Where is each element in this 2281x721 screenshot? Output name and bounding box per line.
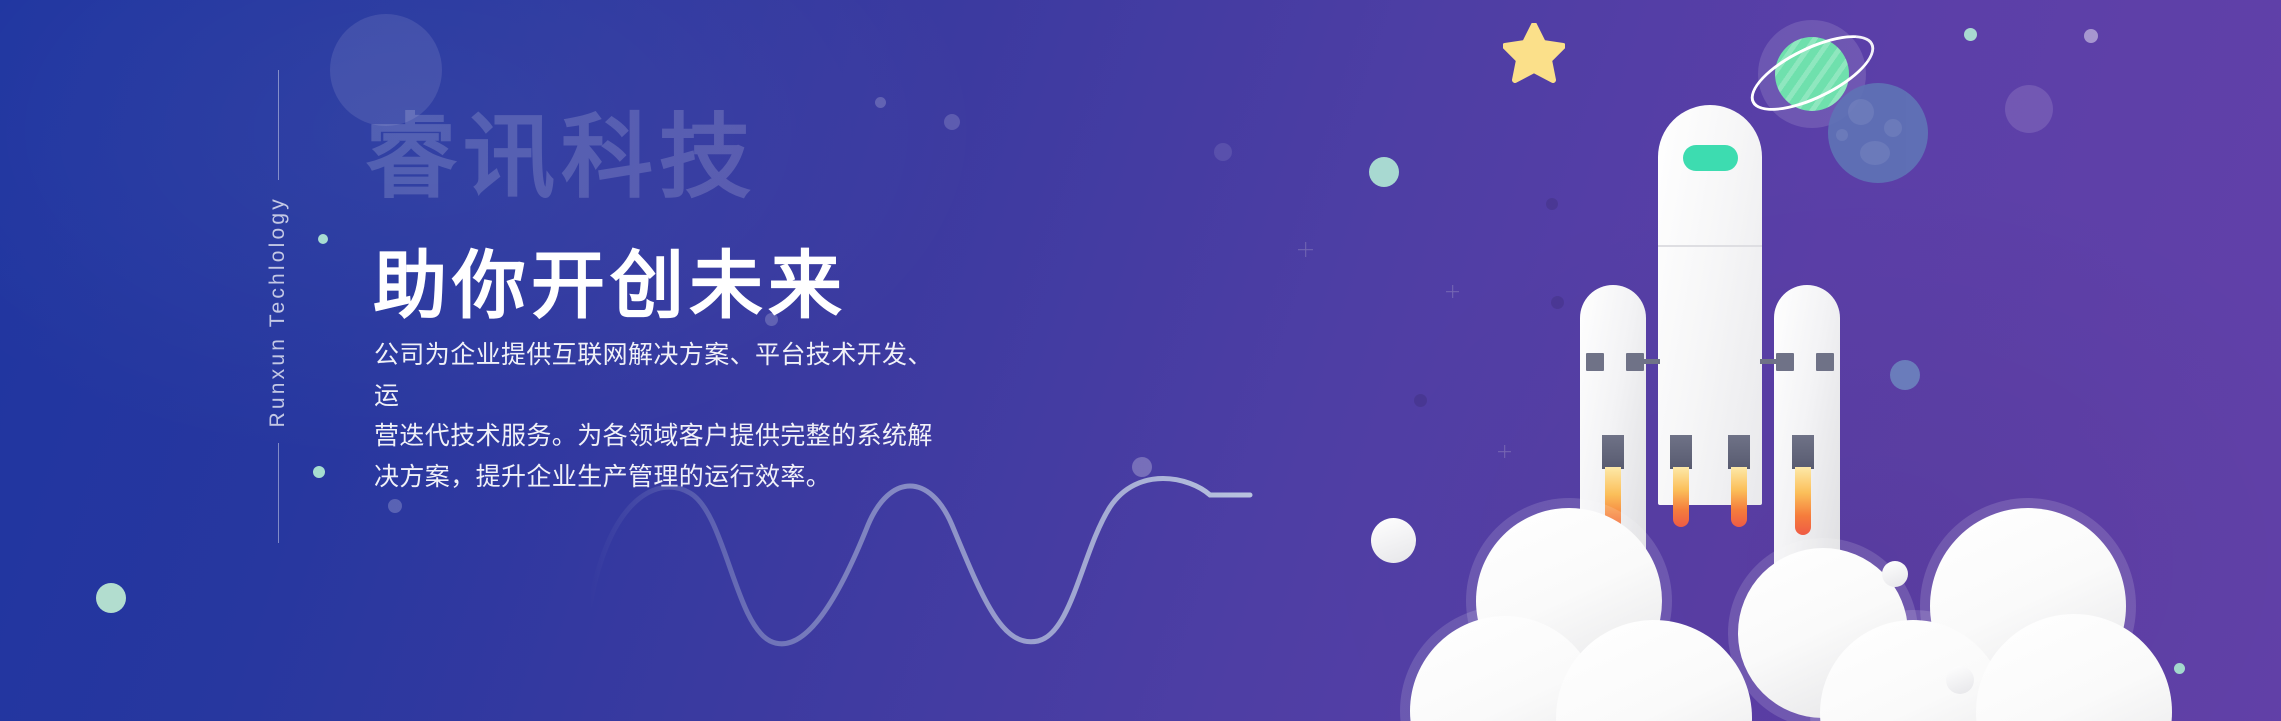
rocket-seam-line xyxy=(1658,245,1762,247)
decor-dot-mint-scene xyxy=(1964,28,1977,41)
cloud-float-dot-2 xyxy=(1882,561,1908,587)
moon-small-blue xyxy=(2005,85,2053,133)
decor-dot-grayblue-1 xyxy=(388,499,402,513)
star-icon xyxy=(1503,23,1565,83)
rocket-illustration xyxy=(1380,0,2281,721)
cloud-bank xyxy=(1380,440,2281,721)
rocket-window-icon xyxy=(1683,145,1738,171)
rocket-link-left xyxy=(1642,359,1660,364)
sine-wave-decoration xyxy=(590,455,1270,655)
rocket-link-right xyxy=(1760,359,1778,364)
brand-rule-top xyxy=(278,70,279,180)
hero-banner: Runxun Techlology 睿讯科技 助你开创未来 公司为企业提供互联网… xyxy=(0,0,2281,721)
rocket-connector-1 xyxy=(1586,353,1604,371)
description-line-1: 公司为企业提供互联网解决方案、平台技术开发、运 xyxy=(374,335,934,416)
decor-dot-grayblue-4 xyxy=(875,97,886,108)
brand-vertical-label: Runxun Techlology xyxy=(266,180,290,443)
decor-dot-mint-large xyxy=(96,583,126,613)
brand-rule-bottom xyxy=(278,443,279,543)
small-moon-blue xyxy=(1890,360,1920,390)
cloud-float-dot-1 xyxy=(1371,518,1416,563)
rocket-connector-3 xyxy=(1776,353,1794,371)
decor-dot-grayblue-5 xyxy=(944,114,960,130)
cloud-float-dot-3 xyxy=(1946,666,1974,694)
vertical-brand: Runxun Techlology xyxy=(255,70,301,630)
watermark-text: 睿讯科技 xyxy=(365,112,757,204)
rocket-connector-4 xyxy=(1816,353,1834,371)
decor-dot-mint-2 xyxy=(318,234,328,244)
decor-dot-mint-1 xyxy=(313,466,325,478)
cratered-moon-icon xyxy=(1828,83,1928,183)
decor-circle-blue-small xyxy=(1214,143,1232,161)
decor-sparkle-1 xyxy=(1298,242,1313,257)
page-title: 助你开创未来 xyxy=(373,246,847,326)
description-line-2: 营迭代技术服务。为各领域客户提供完整的系统解 xyxy=(374,416,934,457)
